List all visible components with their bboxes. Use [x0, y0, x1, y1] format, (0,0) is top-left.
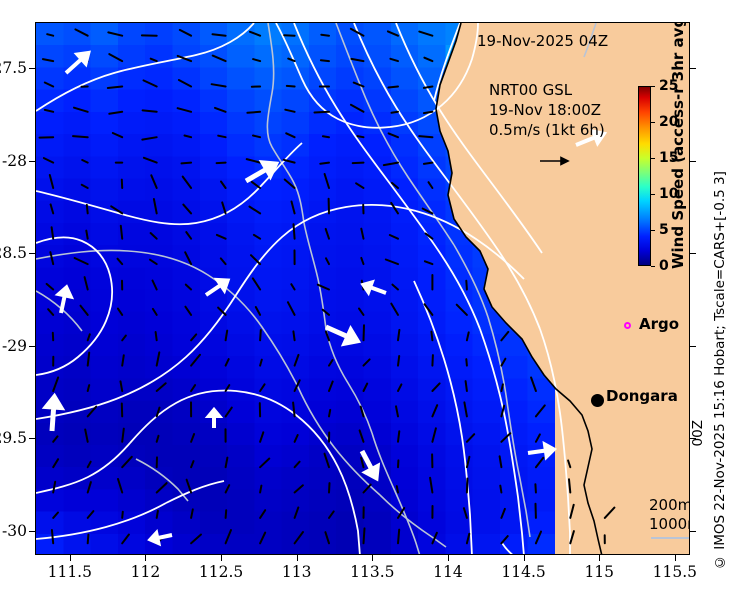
x-tick-label: 112.5	[199, 563, 243, 581]
x-tick	[221, 555, 222, 561]
colorbar-tick	[651, 194, 655, 195]
argo-label: Argo	[639, 315, 679, 333]
clipped-right-axis-label: 00Z	[690, 420, 706, 446]
x-tick-label: 115	[584, 563, 614, 581]
dongara-label: Dongara	[606, 387, 678, 405]
y-tick-right	[690, 531, 696, 532]
x-tick	[297, 555, 298, 561]
x-tick-label: 114.5	[501, 563, 545, 581]
dongara-marker-icon[interactable]	[591, 394, 604, 407]
x-tick-label: 114	[433, 563, 463, 581]
x-tick-label: 115.5	[653, 563, 697, 581]
depth-key-200m: 200m	[649, 496, 690, 515]
colorbar-gradient	[638, 86, 651, 266]
argo-marker-icon[interactable]	[624, 322, 631, 329]
depth-key-line	[651, 537, 690, 539]
colorbar-tick-label: 5	[659, 222, 669, 238]
y-tick-right	[690, 253, 696, 254]
x-tick	[599, 555, 600, 561]
colorbar[interactable]: 0510152025	[638, 86, 651, 266]
y-tick-label: -29.5	[0, 429, 27, 447]
colorbar-title: Wind Speed (access-r 3hr avg)	[669, 69, 689, 269]
x-tick-label: 112	[131, 563, 161, 581]
colorbar-tick	[651, 266, 655, 267]
depth-contour-key: 200m 1000m	[649, 496, 690, 534]
depth-key-1000m: 1000m	[649, 515, 690, 534]
y-tick-label: -30	[0, 522, 27, 540]
x-tick	[372, 555, 373, 561]
x-tick	[448, 555, 449, 561]
colorbar-tick	[651, 230, 655, 231]
x-tick-label: 111.5	[48, 563, 92, 581]
y-tick	[29, 346, 35, 347]
figure-root: 19-Nov-2025 04Z NRT00 GSL 19-Nov 18:00Z …	[0, 0, 740, 592]
colorbar-tick	[651, 158, 655, 159]
x-tick	[524, 555, 525, 561]
y-tick-right	[690, 68, 696, 69]
reference-vector-arrow	[538, 154, 578, 168]
x-tick-label: 113	[282, 563, 312, 581]
colorbar-tick-label: 0	[659, 258, 669, 274]
colorbar-tick	[651, 122, 655, 123]
y-tick	[29, 68, 35, 69]
y-tick-right	[690, 161, 696, 162]
x-tick	[70, 555, 71, 561]
x-tick	[145, 555, 146, 561]
y-tick-right	[690, 346, 696, 347]
y-tick-label: -27.5	[0, 59, 27, 77]
y-tick-label: -28	[0, 152, 27, 170]
y-tick	[29, 438, 35, 439]
x-tick	[675, 555, 676, 561]
timestamp-annotation: 19-Nov-2025 04Z	[477, 32, 608, 50]
y-tick	[29, 253, 35, 254]
map-plot-area[interactable]: 19-Nov-2025 04Z NRT00 GSL 19-Nov 18:00Z …	[35, 22, 690, 555]
y-tick	[29, 161, 35, 162]
credit-text: © IMOS 22-Nov-2025 15:16 Hobart; Tscale=…	[712, 150, 728, 570]
y-tick	[29, 531, 35, 532]
y-tick-label: -29	[0, 337, 27, 355]
colorbar-tick	[651, 86, 655, 87]
x-tick-label: 113.5	[350, 563, 394, 581]
wind-source-annotation: NRT00 GSL 19-Nov 18:00Z 0.5m/s (1kt 6h)	[489, 80, 605, 140]
y-tick-label: -28.5	[0, 244, 27, 262]
